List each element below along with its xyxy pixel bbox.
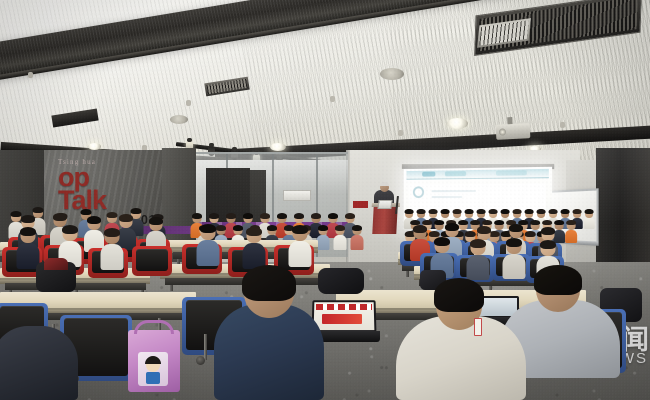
attendee-hair bbox=[501, 209, 510, 214]
attendee-hair bbox=[429, 231, 440, 237]
attendee-hair bbox=[318, 225, 328, 231]
attendee bbox=[333, 226, 346, 250]
character-tote-bag bbox=[128, 330, 180, 392]
attendee-hair bbox=[434, 278, 484, 312]
attendee bbox=[466, 240, 489, 280]
attendee-hair bbox=[470, 239, 486, 248]
attendee bbox=[100, 229, 123, 270]
attendee bbox=[242, 228, 265, 269]
attendee-hair bbox=[585, 209, 594, 214]
chair-red bbox=[136, 249, 168, 271]
attendee-hair bbox=[453, 209, 462, 214]
attendee-hair bbox=[260, 213, 270, 219]
attendee-hair bbox=[489, 209, 498, 214]
attendee-hair bbox=[267, 225, 277, 231]
attendee-hair bbox=[345, 213, 355, 219]
attendee-hair bbox=[130, 208, 141, 214]
bag-character-body bbox=[146, 372, 160, 384]
attendee-hair bbox=[53, 213, 67, 221]
attendee-hair bbox=[233, 225, 243, 231]
seating-and-crowd-layer bbox=[0, 0, 650, 400]
attendee-hair bbox=[445, 223, 459, 231]
attendee-hair bbox=[352, 225, 362, 231]
attendee-hair bbox=[335, 225, 345, 231]
attendee-hair bbox=[477, 226, 491, 234]
attendee-hair bbox=[294, 213, 304, 219]
attendee-hair bbox=[530, 220, 540, 225]
attendee-hair bbox=[541, 227, 555, 235]
attendee-hair bbox=[465, 209, 474, 214]
attendee bbox=[16, 228, 39, 269]
backpack bbox=[318, 268, 364, 294]
attendee-hair bbox=[525, 209, 534, 214]
attendee-hair bbox=[540, 240, 556, 249]
attendee-hair bbox=[243, 213, 253, 219]
attendee-hair bbox=[537, 209, 546, 214]
attendee-torso bbox=[584, 218, 595, 230]
attendee-hair bbox=[104, 228, 120, 237]
attendee-foreground-white bbox=[396, 282, 526, 400]
attendee-hair bbox=[87, 216, 101, 224]
attendee-hair bbox=[277, 213, 287, 219]
attendee-hair bbox=[200, 224, 216, 233]
laptop-screen-title bbox=[322, 314, 362, 324]
attendee-hair bbox=[405, 209, 414, 214]
attendee-hair bbox=[434, 237, 450, 246]
attendee-hair bbox=[413, 225, 427, 233]
attendee-hair bbox=[192, 213, 202, 219]
attendee-hair bbox=[513, 209, 522, 214]
bag-handle bbox=[134, 320, 174, 334]
attendee-hair bbox=[80, 209, 91, 215]
attendee-hair bbox=[482, 220, 492, 225]
attendee-torso bbox=[288, 241, 311, 267]
attendee-hair bbox=[226, 213, 236, 219]
attendee-hair bbox=[509, 224, 523, 232]
chair-caster bbox=[196, 356, 205, 365]
attendee-hair bbox=[429, 209, 438, 214]
attendee-hair bbox=[566, 220, 576, 225]
attendee-hair bbox=[561, 209, 570, 214]
attendee-torso bbox=[214, 304, 324, 400]
attendee-hair bbox=[477, 209, 486, 214]
attendee-hair bbox=[311, 213, 321, 219]
attendee bbox=[288, 226, 311, 267]
attendee-torso bbox=[196, 240, 219, 266]
attendee-hair bbox=[21, 215, 35, 223]
attendee-foreground-left bbox=[0, 300, 78, 400]
backpack-flap bbox=[44, 258, 68, 270]
chair-leg bbox=[204, 334, 207, 360]
attendee-hair bbox=[246, 227, 262, 236]
attendee-hair bbox=[417, 209, 426, 214]
chair-backrest bbox=[136, 249, 168, 271]
attendee-hair bbox=[20, 227, 36, 236]
attendee-hair bbox=[441, 209, 450, 214]
attendee-torso bbox=[565, 230, 577, 243]
attendee-torso bbox=[100, 244, 123, 270]
laptop-screen-banner bbox=[316, 304, 372, 310]
attendee-hair bbox=[242, 265, 296, 301]
attendee-torso bbox=[0, 326, 78, 400]
attendee-hair bbox=[62, 225, 78, 234]
attendee-hair bbox=[328, 213, 338, 219]
attendee-hair bbox=[525, 231, 536, 237]
attendee-hair bbox=[149, 217, 163, 225]
attendee-hair bbox=[554, 220, 564, 225]
attendee-hair bbox=[292, 225, 308, 234]
name-badge bbox=[474, 318, 482, 336]
attendee-foreground-navy bbox=[214, 268, 324, 400]
attendee-torso bbox=[350, 235, 363, 250]
attendee-torso bbox=[466, 255, 489, 280]
attendee-hair bbox=[542, 220, 552, 225]
attendee-hair bbox=[209, 213, 219, 219]
attendee-hair bbox=[549, 209, 558, 214]
lecture-hall-photo: Tsing hua op Talk 017 bbox=[0, 0, 650, 400]
attendee bbox=[584, 210, 595, 229]
attendee-hair bbox=[119, 214, 133, 222]
attendee bbox=[196, 225, 219, 266]
attendee bbox=[565, 221, 577, 243]
attendee-hair bbox=[573, 209, 582, 214]
attendee-hair bbox=[534, 265, 582, 295]
attendee-torso bbox=[16, 243, 39, 269]
attendee-torso bbox=[333, 235, 346, 250]
attendee-hair bbox=[506, 238, 522, 247]
attendee-hair bbox=[32, 207, 43, 213]
attendee-hair bbox=[494, 220, 504, 225]
attendee bbox=[350, 226, 363, 250]
attendee-hair bbox=[470, 220, 480, 225]
